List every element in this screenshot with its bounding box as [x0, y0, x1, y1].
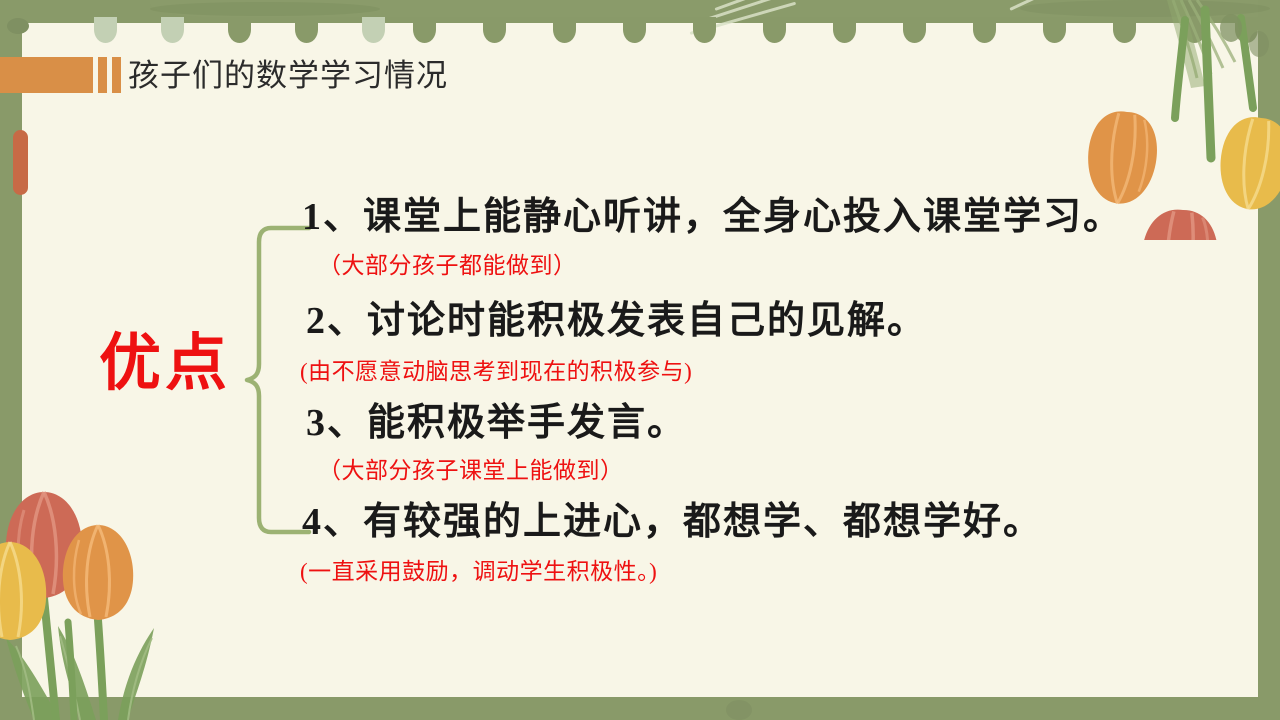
left-border-band	[0, 0, 22, 720]
scallop-17	[1183, 17, 1206, 43]
bottom-band-dot	[726, 700, 752, 720]
point-text-4: 4、有较强的上进心，都想学、都想学好。	[302, 500, 1043, 546]
point-note-3: （大部分孩子课堂上能做到）	[318, 457, 624, 485]
scallop-7	[483, 17, 506, 43]
point-text-3: 3、能积极举手发言。	[306, 401, 687, 447]
top-leaf-blade-2	[1020, 0, 1270, 17]
scallop-5	[362, 17, 385, 43]
point-text-1: 1、课堂上能静心听讲，全身心投入课堂学习。	[302, 195, 1123, 241]
title-accent-bar-narrow-1	[98, 57, 107, 93]
point-note-2: (由不愿意动脑思考到现在的积极参与)	[300, 358, 692, 386]
page-title: 孩子们的数学学习情况	[128, 50, 448, 95]
category-label: 优点	[85, 332, 245, 394]
title-accent-bar-narrow-2	[112, 57, 121, 93]
scallop-3	[228, 17, 251, 43]
scallop-6	[413, 17, 436, 43]
scallop-10	[693, 17, 716, 43]
right-border-band	[1258, 0, 1280, 720]
scallop-15	[1043, 17, 1066, 43]
scallop-16	[1113, 17, 1136, 43]
top-leaf-blade-1	[150, 2, 380, 16]
point-note-4: (一直采用鼓励，调动学生积极性。)	[300, 558, 657, 586]
scallop-1	[94, 17, 117, 43]
slide-canvas: 孩子们的数学学习情况 优点 1、课堂上能静心听讲，全身心投入课堂学习。 （大部分…	[0, 0, 1280, 720]
scallop-4	[295, 17, 318, 43]
scallop-13	[903, 17, 926, 43]
scallop-9	[623, 17, 646, 43]
scallop-12	[833, 17, 856, 43]
point-text-2: 2、讨论时能积极发表自己的见解。	[306, 299, 927, 345]
title-accent-bar-wide	[0, 57, 93, 93]
scallop-18	[1235, 17, 1258, 43]
scallop-14	[973, 17, 996, 43]
scallop-8	[553, 17, 576, 43]
point-note-1: （大部分孩子都能做到）	[318, 252, 577, 280]
scallop-2	[161, 17, 184, 43]
top-left-corner-dot	[7, 18, 29, 34]
bottom-border-band	[0, 697, 1280, 720]
scallop-11	[763, 17, 786, 43]
left-side-tab	[13, 130, 28, 195]
